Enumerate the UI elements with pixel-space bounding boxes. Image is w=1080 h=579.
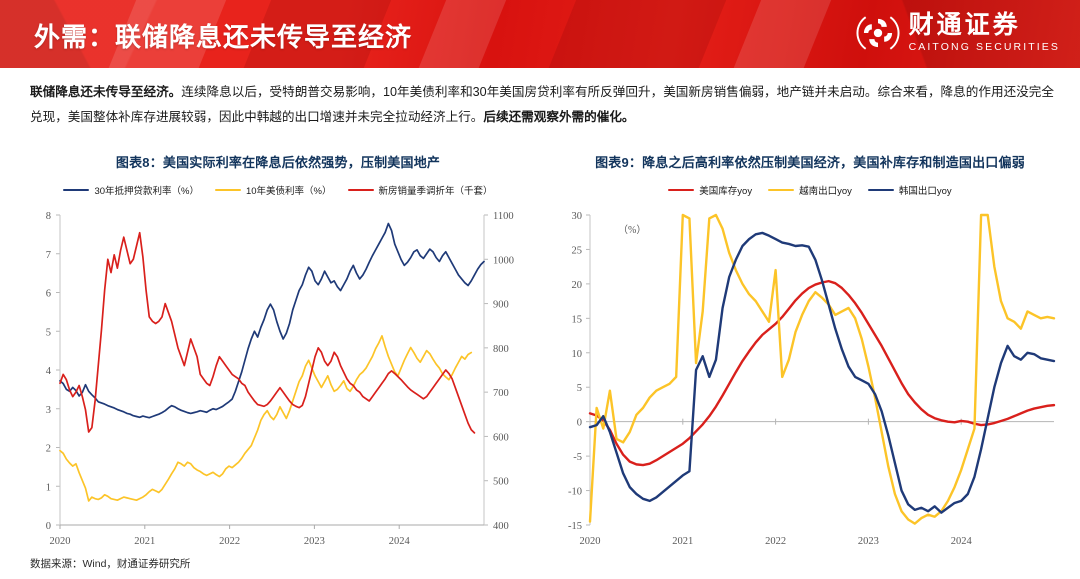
source-note: 数据来源：Wind，财通证券研究所 xyxy=(30,556,190,571)
svg-text:2021: 2021 xyxy=(672,536,693,547)
legend-label: 韩国出口yoy xyxy=(899,183,952,197)
svg-text:15: 15 xyxy=(572,314,583,325)
svg-text:2023: 2023 xyxy=(304,536,325,547)
svg-text:25: 25 xyxy=(572,245,583,256)
svg-text:2021: 2021 xyxy=(134,536,155,547)
header-banner: 外需：联储降息还未传导至经济 财通证券 CAITONG SECURIT xyxy=(0,0,1080,68)
svg-text:-10: -10 xyxy=(568,487,582,498)
figure-8-title: 图表8：美国实际利率在降息后依然强势，压制美国地产 xyxy=(14,152,542,171)
legend-item: 越南出口yoy xyxy=(768,183,852,197)
svg-text:700: 700 xyxy=(493,388,509,399)
svg-text:2024: 2024 xyxy=(951,536,973,547)
svg-text:2022: 2022 xyxy=(219,536,240,547)
legend-swatch-navy xyxy=(63,189,89,192)
paragraph-tail: 后续还需观察外需的催化。 xyxy=(483,110,634,124)
legend-item: 30年抵押贷款利率（%） xyxy=(63,183,199,197)
svg-text:7: 7 xyxy=(46,250,51,261)
legend-label: 美国库存yoy xyxy=(699,183,752,197)
caitong-emblem-icon xyxy=(856,11,900,55)
svg-text:8: 8 xyxy=(46,211,51,222)
banner-stripe xyxy=(528,0,743,68)
figure-9-panel: 图表9：降息之后高利率依然压制美国经济，美国补库存和制造国出口偏弱 美国库存yo… xyxy=(546,150,1074,570)
banner-stripe xyxy=(713,0,848,68)
svg-text:1000: 1000 xyxy=(493,255,514,266)
legend-item: 10年美债利率（%） xyxy=(215,183,332,197)
svg-text:2: 2 xyxy=(46,444,51,455)
svg-text:20: 20 xyxy=(572,280,583,291)
legend-label: 30年抵押贷款利率（%） xyxy=(94,183,199,197)
svg-text:2024: 2024 xyxy=(389,536,411,547)
svg-text:600: 600 xyxy=(493,432,509,443)
logo-chinese-name: 财通证券 xyxy=(909,13,1060,38)
brand-logo: 财通证券 CAITONG SECURITIES xyxy=(856,11,1060,55)
legend-swatch-yellow xyxy=(768,189,794,192)
legend-swatch-yellow xyxy=(215,189,241,192)
figure-9-plot: -15-10-5051015202530（%）20202021202220232… xyxy=(546,203,1074,573)
legend-item: 新房销量季调折年（千套） xyxy=(348,183,493,197)
slide-page: 外需：联储降息还未传导至经济 财通证券 CAITONG SECURIT xyxy=(0,0,1080,579)
figure-8-panel: 图表8：美国实际利率在降息后依然强势，压制美国地产 30年抵押贷款利率（%） 1… xyxy=(14,150,542,570)
svg-text:900: 900 xyxy=(493,300,509,311)
figure-8-legend: 30年抵押贷款利率（%） 10年美债利率（%） 新房销量季调折年（千套） xyxy=(14,183,542,197)
svg-text:2023: 2023 xyxy=(858,536,879,547)
svg-text:500: 500 xyxy=(493,477,509,488)
legend-label: 10年美债利率（%） xyxy=(246,183,332,197)
svg-text:30: 30 xyxy=(572,211,583,222)
legend-swatch-red xyxy=(348,189,374,192)
body-paragraph: 联储降息还未传导至经济。连续降息以后，受特朗普交易影响，10年美债利率和30年美… xyxy=(30,80,1054,130)
legend-label: 越南出口yoy xyxy=(799,183,852,197)
svg-text:2020: 2020 xyxy=(580,536,601,547)
legend-swatch-navy xyxy=(868,189,894,192)
logo-english-name: CAITONG SECURITIES xyxy=(909,42,1060,53)
svg-text:0: 0 xyxy=(577,418,582,429)
svg-text:-15: -15 xyxy=(568,521,582,532)
svg-text:5: 5 xyxy=(577,383,582,394)
paragraph-lead: 联储降息还未传导至经济。 xyxy=(30,85,181,99)
svg-text:2022: 2022 xyxy=(765,536,786,547)
figure-8-plot: 0123456784005006007008009001000110020202… xyxy=(14,203,542,573)
svg-text:10: 10 xyxy=(572,349,583,360)
figure-9-svg: -15-10-5051015202530（%）20202021202220232… xyxy=(546,203,1074,573)
legend-label: 新房销量季调折年（千套） xyxy=(379,183,493,197)
svg-text:（%）: （%） xyxy=(618,224,646,236)
legend-item: 美国库存yoy xyxy=(668,183,752,197)
svg-text:1100: 1100 xyxy=(493,211,514,222)
svg-text:3: 3 xyxy=(46,405,51,416)
svg-text:800: 800 xyxy=(493,344,509,355)
banner-stripe xyxy=(398,0,523,68)
legend-item: 韩国出口yoy xyxy=(868,183,952,197)
svg-text:0: 0 xyxy=(46,521,51,532)
figure-8-svg: 0123456784005006007008009001000110020202… xyxy=(14,203,542,573)
svg-text:-5: -5 xyxy=(573,452,582,463)
svg-text:5: 5 xyxy=(46,327,51,338)
svg-text:4: 4 xyxy=(46,366,52,377)
svg-text:1: 1 xyxy=(46,482,51,493)
figure-9-title: 图表9：降息之后高利率依然压制美国经济，美国补库存和制造国出口偏弱 xyxy=(546,152,1074,171)
svg-text:6: 6 xyxy=(46,289,51,300)
svg-text:2020: 2020 xyxy=(50,536,71,547)
legend-swatch-red xyxy=(668,189,694,192)
figure-9-legend: 美国库存yoy 越南出口yoy 韩国出口yoy xyxy=(546,183,1074,197)
page-title: 外需：联储降息还未传导至经济 xyxy=(34,17,412,54)
svg-text:400: 400 xyxy=(493,521,509,532)
